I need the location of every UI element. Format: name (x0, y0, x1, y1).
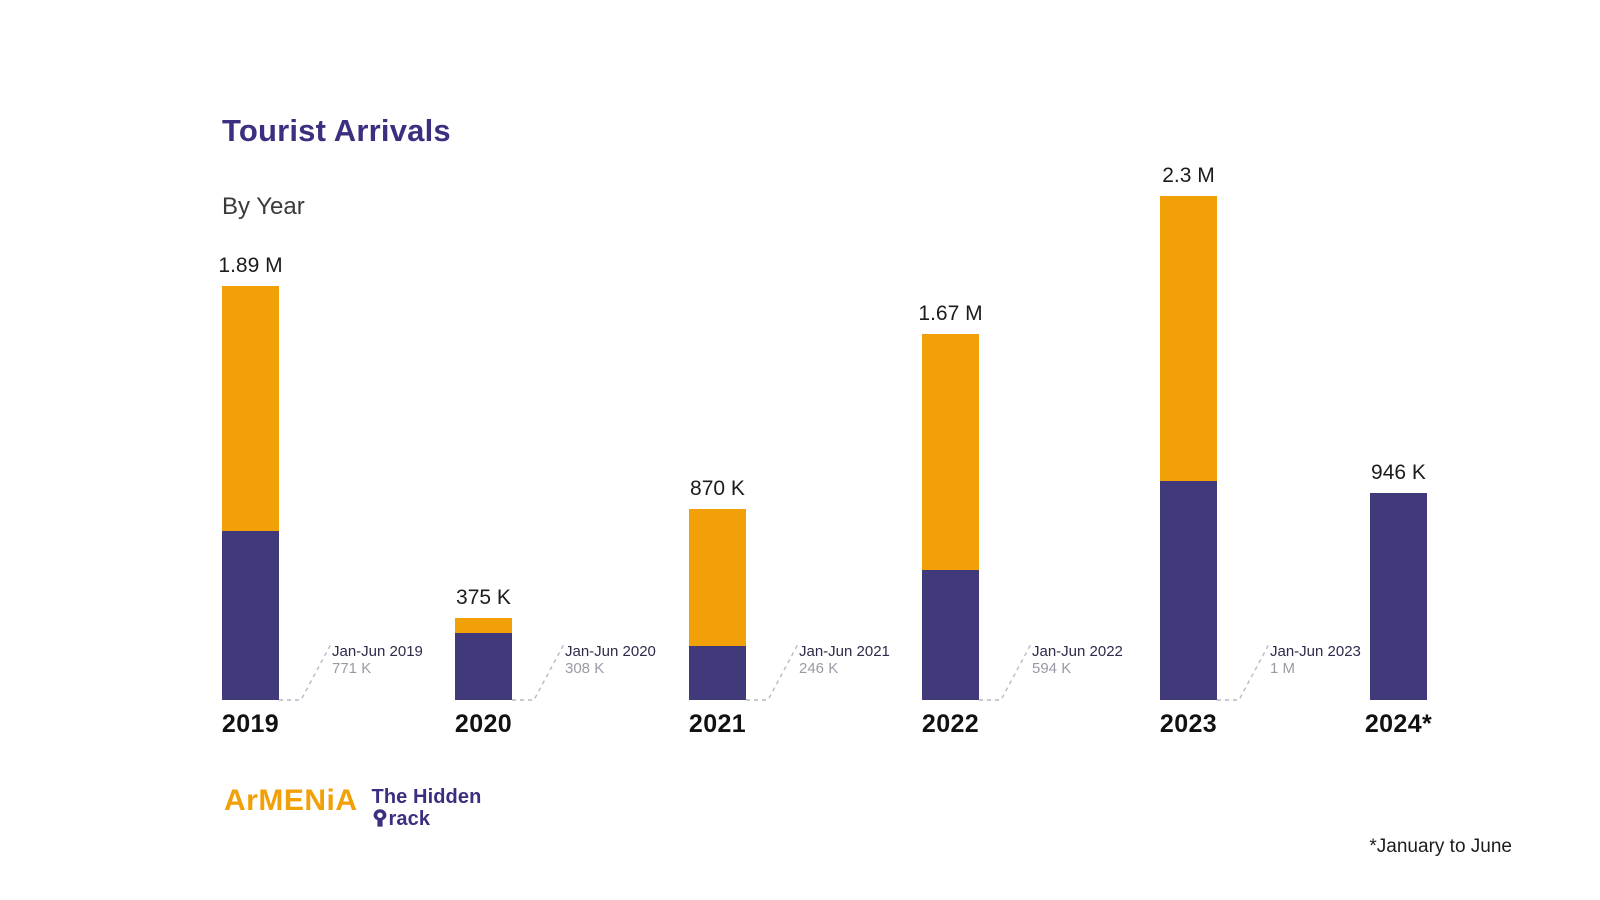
logo-wordmark-armenia: ArMENiA (224, 786, 358, 816)
bar-value-label-2023: 2.3 M (1119, 164, 1259, 188)
bar-2023[interactable] (1160, 196, 1217, 700)
bar-segment-jul-dec[interactable] (1160, 196, 1217, 481)
bar-value-label-2020: 375 K (414, 586, 554, 610)
bar-value-label-2022: 1.67 M (881, 302, 1021, 326)
x-axis-label-2023: 2023 (1109, 710, 1269, 739)
callout-value-label: 308 K (565, 661, 656, 678)
logo-tagline-line2: rack (372, 808, 482, 830)
callout-2020: Jan-Jun 2020308 K (565, 644, 656, 678)
bar-segment-jan-jun[interactable] (455, 633, 512, 700)
callout-period-label: Jan-Jun 2022 (1032, 644, 1123, 661)
logo-tagline-track-text: rack (389, 808, 431, 830)
bar-2022[interactable] (922, 334, 979, 700)
x-axis-label-2022: 2022 (871, 710, 1031, 739)
x-axis-label-2024: 2024* (1319, 710, 1479, 739)
callout-2021: Jan-Jun 2021246 K (799, 644, 890, 678)
logo-tagline: The Hidden rack (372, 786, 482, 831)
callout-value-label: 594 K (1032, 661, 1123, 678)
bar-chart-plot-area: 1.89 M2019Jan-Jun 2019771 K375 K2020Jan-… (0, 0, 1600, 900)
bar-segment-jul-dec[interactable] (455, 618, 512, 633)
callout-2023: Jan-Jun 20231 M (1270, 644, 1361, 678)
callout-value-label: 1 M (1270, 661, 1361, 678)
bar-2024[interactable] (1370, 493, 1427, 700)
callout-period-label: Jan-Jun 2019 (332, 644, 423, 661)
brand-logo: ArMENiAThe Hidden rack (224, 786, 481, 831)
callout-period-label: Jan-Jun 2020 (565, 644, 656, 661)
bar-2021[interactable] (689, 509, 746, 700)
bar-segment-jul-dec[interactable] (222, 286, 279, 531)
x-axis-label-2020: 2020 (404, 710, 564, 739)
logo-tagline-line1: The Hidden (372, 786, 482, 808)
callout-2022: Jan-Jun 2022594 K (1032, 644, 1123, 678)
bar-2019[interactable] (222, 286, 279, 700)
bar-segment-jan-jun[interactable] (1370, 493, 1427, 700)
callout-value-label: 246 K (799, 661, 890, 678)
callout-2019: Jan-Jun 2019771 K (332, 644, 423, 678)
x-axis-label-2019: 2019 (171, 710, 331, 739)
chart-canvas: Tourist Arrivals By Year 1.89 M2019Jan-J… (0, 0, 1600, 900)
bar-segment-jul-dec[interactable] (922, 334, 979, 570)
footnote-january-to-june: *January to June (1369, 836, 1512, 858)
bar-value-label-2019: 1.89 M (181, 254, 321, 278)
callout-period-label: Jan-Jun 2021 (799, 644, 890, 661)
bar-segment-jan-jun[interactable] (922, 570, 979, 700)
callout-period-label: Jan-Jun 2023 (1270, 644, 1361, 661)
bar-segment-jan-jun[interactable] (1160, 481, 1217, 700)
map-pin-icon (372, 808, 389, 830)
bar-segment-jul-dec[interactable] (689, 509, 746, 646)
callout-value-label: 771 K (332, 661, 423, 678)
bar-value-label-2021: 870 K (648, 477, 788, 501)
bar-2020[interactable] (455, 618, 512, 700)
bar-value-label-2024: 946 K (1329, 461, 1469, 485)
bar-segment-jan-jun[interactable] (689, 646, 746, 700)
x-axis-label-2021: 2021 (638, 710, 798, 739)
bar-segment-jan-jun[interactable] (222, 531, 279, 700)
